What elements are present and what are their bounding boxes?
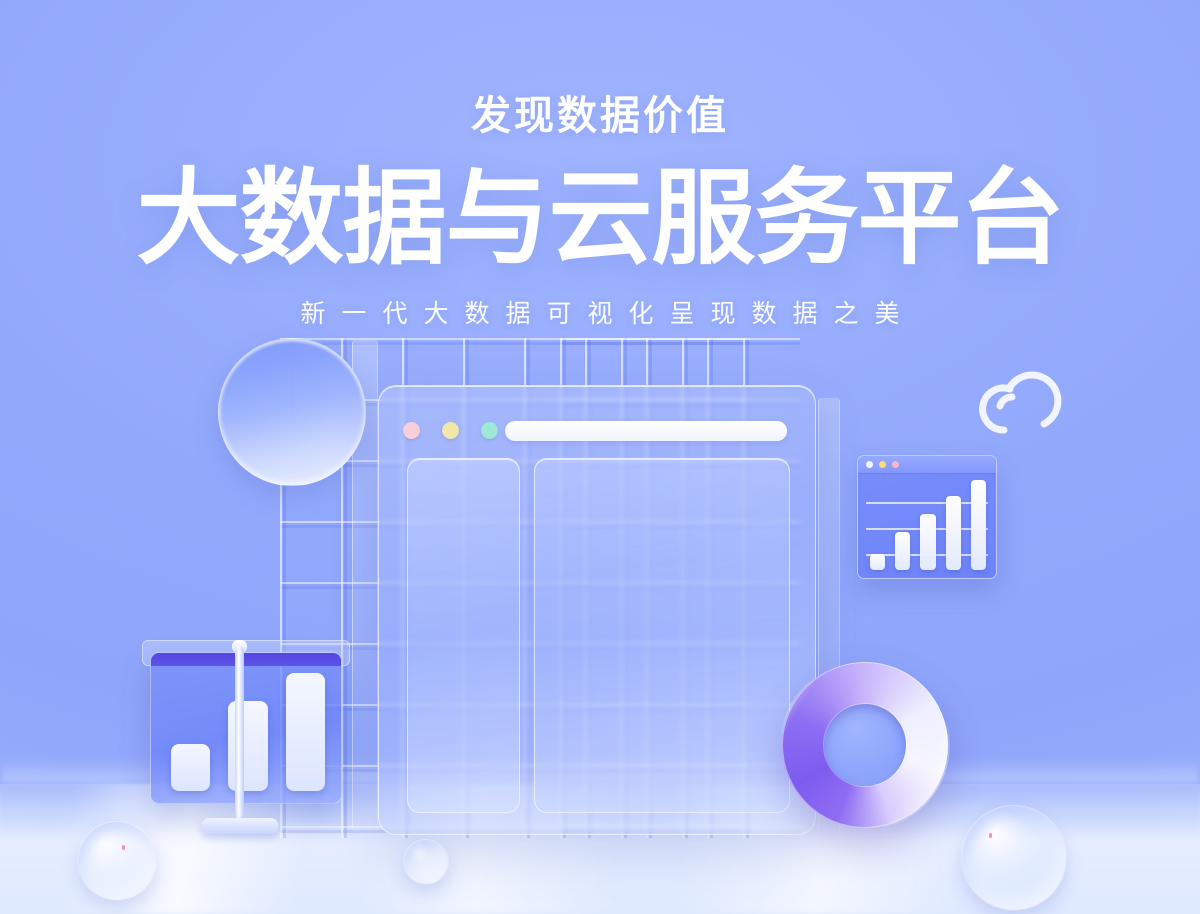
bar <box>286 673 325 791</box>
address-bar[interactable] <box>505 421 787 441</box>
content-panel[interactable] <box>534 458 790 813</box>
glass-sphere-left <box>78 822 156 900</box>
close-dot[interactable] <box>403 422 420 439</box>
maximize-dot[interactable] <box>892 461 899 468</box>
frosted-disc <box>218 338 366 486</box>
glass-sphere-center <box>404 840 448 884</box>
page-title: 大数据与云服务平台 <box>0 166 1200 272</box>
glass-sphere-right <box>962 806 1066 910</box>
monitor-bar-group <box>171 673 325 791</box>
sphere-highlight <box>989 833 992 838</box>
analytics-mini-window[interactable] <box>857 455 997 579</box>
gradient-torus <box>782 662 948 828</box>
hero-subtitle: 新一代大数据可视化呈现数据之美 <box>0 294 1200 330</box>
monitor-stand-base <box>202 818 278 834</box>
hero-kicker: 发现数据价值 <box>0 96 1200 136</box>
mini-bar-group <box>870 480 986 570</box>
bar <box>920 514 935 570</box>
bar <box>895 532 910 570</box>
bar <box>946 496 961 570</box>
bar <box>971 480 986 570</box>
maximize-dot[interactable] <box>481 422 498 439</box>
monitor-bar-chart <box>132 640 350 840</box>
sphere-highlight <box>122 845 125 850</box>
close-dot[interactable] <box>866 461 873 468</box>
mini-title-bar <box>858 456 996 474</box>
bar <box>870 554 885 570</box>
minimize-dot[interactable] <box>442 422 459 439</box>
minimize-dot[interactable] <box>879 461 886 468</box>
bar <box>171 744 210 791</box>
traffic-light-group <box>403 422 498 439</box>
monitor-header-band <box>151 653 341 666</box>
monitor-stand-pole <box>235 646 244 824</box>
sidebar-panel[interactable] <box>407 458 520 813</box>
monitor-screen <box>150 652 342 804</box>
hero-text-block: 发现数据价值 大数据与云服务平台 新一代大数据可视化呈现数据之美 <box>0 0 1200 330</box>
hero-banner: 发现数据价值 大数据与云服务平台 新一代大数据可视化呈现数据之美 <box>0 0 1200 914</box>
cloud-icon <box>972 362 1068 438</box>
main-browser-mockup[interactable] <box>378 385 816 835</box>
mini-chart-body <box>858 474 996 578</box>
